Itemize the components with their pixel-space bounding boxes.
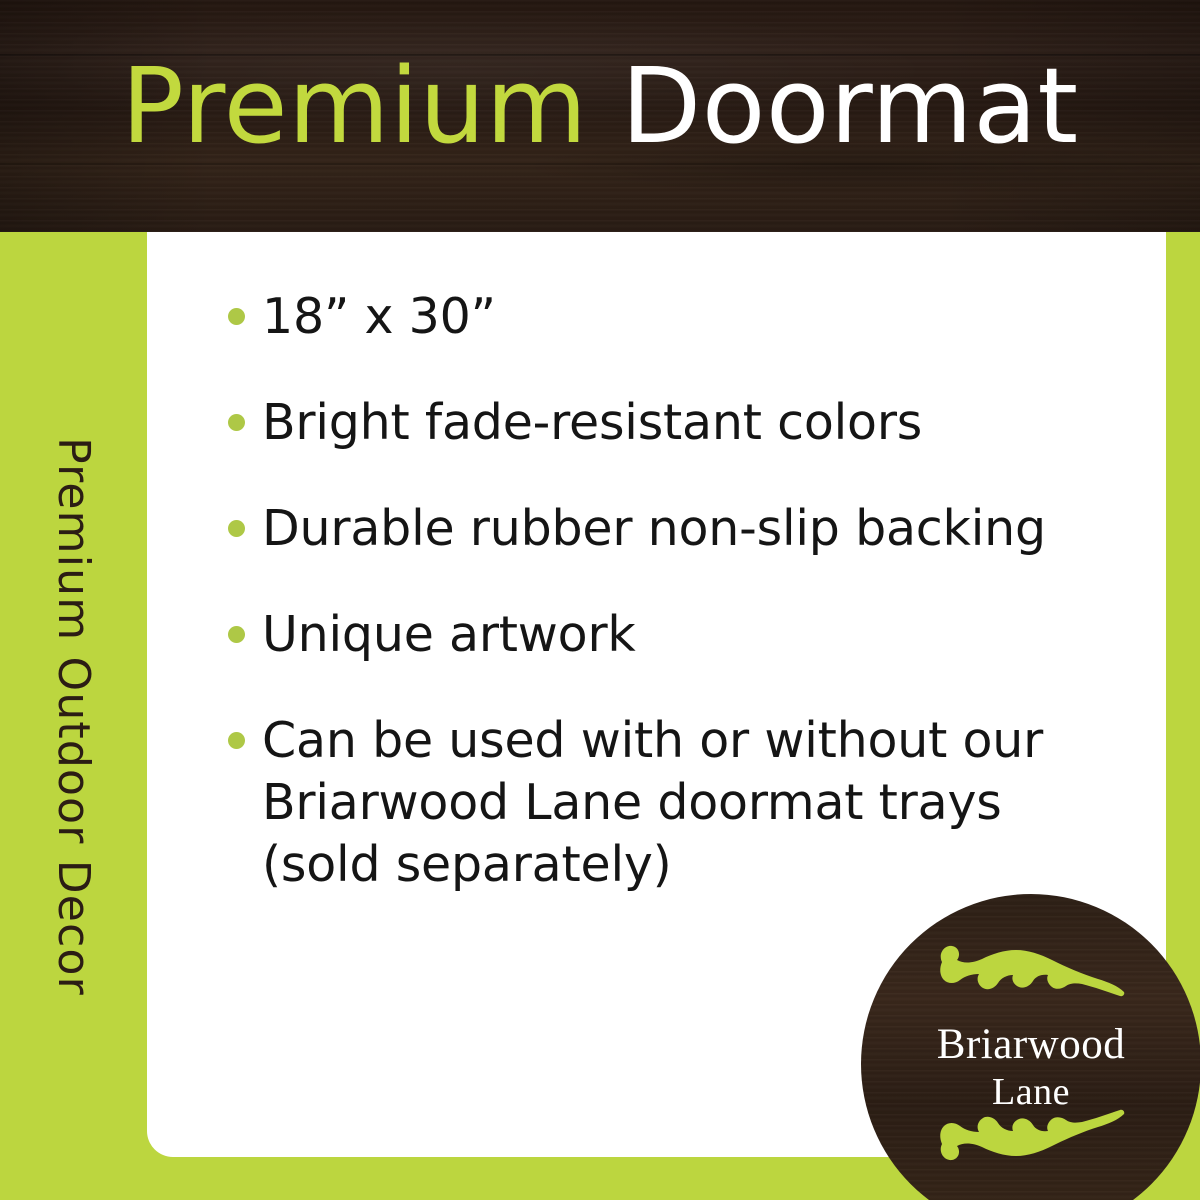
list-item-label: Bright fade-resistant colors [262, 392, 1108, 454]
briarwood-lane-logo-badge: Briarwood Lane [861, 894, 1200, 1200]
list-item-label: Unique artwork [262, 604, 1108, 666]
list-item-label: Can be used with or without our Briarwoo… [262, 710, 1108, 896]
list-item-label: 18” x 30” [262, 286, 1108, 348]
bullet-dot-icon [228, 626, 245, 643]
list-item: Can be used with or without our Briarwoo… [228, 710, 1108, 896]
list-item: Bright fade-resistant colors [228, 392, 1108, 454]
bullet-dot-icon [228, 414, 245, 431]
oak-leaf-flourish-icon [936, 1106, 1126, 1164]
logo-name-line1: Briarwood [861, 1020, 1200, 1070]
logo-wordmark: Briarwood Lane [861, 1020, 1200, 1114]
feature-list: 18” x 30” Bright fade-resistant colors D… [228, 286, 1108, 896]
product-infographic: Premium Doormat Premium Outdoor Decor 18… [0, 0, 1200, 1200]
list-item: Unique artwork [228, 604, 1108, 666]
bullet-dot-icon [228, 520, 245, 537]
bullet-dot-icon [228, 308, 245, 325]
title-accent-word: Premium [121, 45, 587, 167]
bullet-dot-icon [228, 732, 245, 749]
oak-leaf-flourish-icon [936, 942, 1126, 1000]
list-item: Durable rubber non-slip backing [228, 498, 1108, 560]
list-item-label: Durable rubber non-slip backing [262, 498, 1108, 560]
logo-inner: Briarwood Lane [861, 894, 1200, 1200]
page-title: Premium Doormat [0, 46, 1200, 166]
list-item: 18” x 30” [228, 286, 1108, 348]
title-plain-word: Doormat [588, 45, 1079, 167]
